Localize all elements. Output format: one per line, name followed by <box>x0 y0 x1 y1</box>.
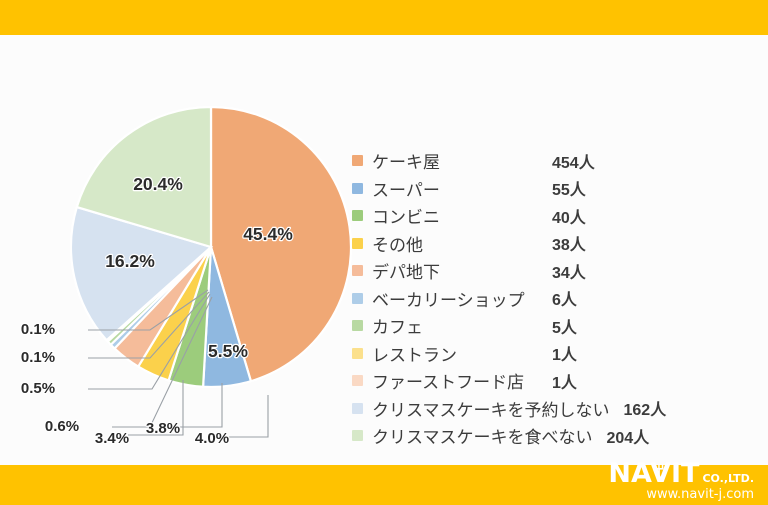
legend-item[interactable]: ケーキ屋454人 <box>352 147 762 175</box>
legend-color-swatch <box>352 403 363 414</box>
legend-color-swatch <box>352 375 363 386</box>
legend-item[interactable]: スーパー55人 <box>352 175 762 203</box>
legend-item-value: 1人 <box>524 369 577 393</box>
legend-item-label: ベーカリーショップ <box>372 286 525 311</box>
legend-color-swatch <box>352 430 363 441</box>
legend-item-label: コンビニ <box>372 203 440 228</box>
legend-item-value: 34人 <box>440 259 586 283</box>
slice-percent-label: 0.5% <box>21 380 55 397</box>
slice-percent-label: 3.4% <box>95 430 129 447</box>
logo-mark: NAVIT <box>608 460 699 487</box>
legend-item[interactable]: ファーストフード店1人 <box>352 367 762 395</box>
legend-color-swatch <box>352 348 363 359</box>
slice-percent-label: 20.4% <box>133 174 183 194</box>
legend-item[interactable]: その他38人 <box>352 230 762 258</box>
slice-percent-label: 0.1% <box>21 321 55 338</box>
slice-percent-label: 4.0% <box>195 430 229 447</box>
legend-item-label: ケーキ屋 <box>372 148 440 173</box>
pie-chart: 45.4%16.2%20.4%5.5%0.1%0.1%0.5%0.6%3.4%3… <box>0 35 380 465</box>
legend-item-label: レストラン <box>372 341 457 366</box>
legend-item-value: 5人 <box>423 314 577 338</box>
legend-item-value: 162人 <box>610 396 667 420</box>
screenshot-root: 45.4%16.2%20.4%5.5%0.1%0.1%0.5%0.6%3.4%3… <box>0 0 768 505</box>
legend-item[interactable]: クリスマスケーキを食べない204人 <box>352 422 762 450</box>
legend-item[interactable]: デパ地下34人 <box>352 257 762 285</box>
legend-item-value: 6人 <box>525 286 577 310</box>
slice-percent-label: 5.5% <box>208 341 248 361</box>
slice-percent-label: 16.2% <box>105 251 155 271</box>
logo-wordmark-row: NAVIT CO.,LTD. <box>608 460 754 487</box>
legend-item-label: クリスマスケーキを予約しない <box>372 396 610 421</box>
legend-item[interactable]: クリスマスケーキを予約しない162人 <box>352 395 762 423</box>
legend-item-value: 1人 <box>457 341 577 365</box>
legend-item-label: カフェ <box>372 313 423 338</box>
legend-item-value: 55人 <box>440 176 586 200</box>
fork-icon <box>654 453 664 464</box>
slice-percent-label: 0.1% <box>21 349 55 366</box>
legend-item-label: その他 <box>372 231 423 256</box>
bottom-yellow-band: NAVIT CO.,LTD. www.navit-j.com <box>0 465 768 505</box>
legend-color-swatch <box>352 265 363 276</box>
legend-item[interactable]: レストラン1人 <box>352 340 762 368</box>
legend-color-swatch <box>352 183 363 194</box>
legend-item-label: デパ地下 <box>372 258 440 283</box>
legend-item-label: クリスマスケーキを食べない <box>372 423 593 448</box>
legend-item[interactable]: ベーカリーショップ6人 <box>352 285 762 313</box>
slice-percent-label: 45.4% <box>243 224 293 244</box>
logo-company-suffix: CO.,LTD. <box>702 473 754 487</box>
legend-item-value: 454人 <box>440 149 595 173</box>
slice-percent-label: 3.8% <box>146 420 180 437</box>
slice-percent-label: 0.6% <box>45 418 79 435</box>
legend-item-value: 38人 <box>423 231 586 255</box>
label-leader-line <box>180 383 222 427</box>
legend-color-swatch <box>352 210 363 221</box>
logo-url: www.navit-j.com <box>646 488 754 501</box>
legend-item[interactable]: コンビニ40人 <box>352 202 762 230</box>
legend-item[interactable]: カフェ5人 <box>352 312 762 340</box>
legend-color-swatch <box>352 155 363 166</box>
label-leader-line <box>228 395 268 437</box>
chart-canvas: 45.4%16.2%20.4%5.5%0.1%0.1%0.5%0.6%3.4%3… <box>0 35 768 465</box>
legend-item-value: 204人 <box>593 424 650 448</box>
legend-item-value: 40人 <box>440 204 586 228</box>
pie-svg: 45.4%16.2%20.4%5.5%0.1%0.1%0.5%0.6%3.4%3… <box>0 35 380 465</box>
legend-color-swatch <box>352 238 363 249</box>
legend-item-label: スーパー <box>372 176 440 201</box>
chart-legend: ケーキ屋454人スーパー55人コンビニ40人その他38人デパ地下34人ベーカリー… <box>352 147 762 450</box>
legend-color-swatch <box>352 293 363 304</box>
top-yellow-band <box>0 0 768 35</box>
legend-item-label: ファーストフード店 <box>372 368 524 393</box>
navit-logo: NAVIT CO.,LTD. www.navit-j.com <box>608 460 754 501</box>
legend-color-swatch <box>352 320 363 331</box>
